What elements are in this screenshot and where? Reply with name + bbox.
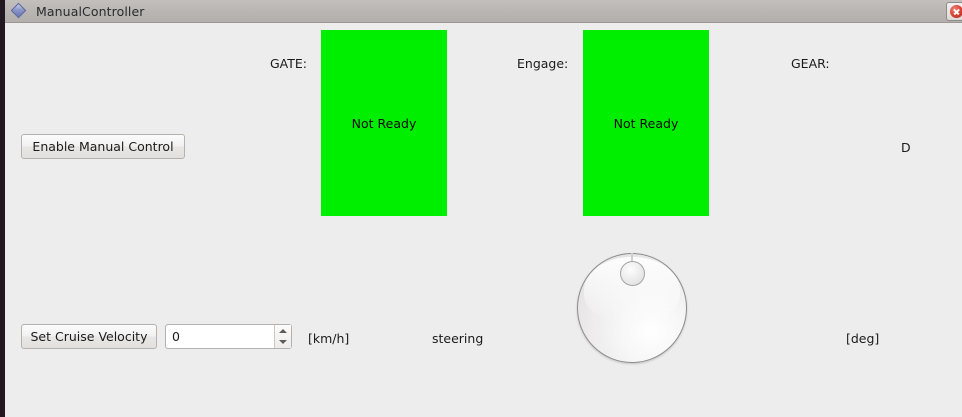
steering-dial[interactable] — [577, 253, 687, 363]
chevron-down-icon — [279, 340, 287, 344]
chevron-up-icon — [279, 329, 287, 333]
gear-status-value: D — [901, 140, 911, 155]
spinbox-decrement-button[interactable] — [275, 337, 291, 349]
gate-status-value: Not Ready — [352, 116, 417, 131]
cruise-velocity-spinbox[interactable]: 0 — [165, 324, 292, 349]
spinbox-increment-button[interactable] — [275, 325, 291, 337]
window-client-area: GATE: Engage: GEAR: Enable Manual Contro… — [5, 23, 962, 417]
enable-manual-control-button[interactable]: Enable Manual Control — [21, 134, 185, 159]
steering-unit-label: [deg] — [846, 331, 879, 346]
qt-diamond-icon — [11, 3, 27, 19]
steering-label: steering — [432, 331, 483, 346]
gear-label: GEAR: — [791, 56, 830, 71]
velocity-unit-label: [km/h] — [308, 331, 349, 346]
set-cruise-velocity-button[interactable]: Set Cruise Velocity — [21, 324, 157, 349]
gate-label: GATE: — [270, 56, 307, 71]
gate-status-box: Not Ready — [321, 30, 447, 216]
close-icon — [950, 5, 962, 18]
window-title: ManualController — [36, 4, 145, 19]
manual-controller-window: ManualController GATE: Engage: GEAR: Ena… — [5, 0, 962, 417]
cruise-velocity-input[interactable]: 0 — [166, 325, 274, 348]
engage-label: Engage: — [517, 56, 568, 71]
close-window-button[interactable] — [946, 2, 962, 21]
window-titlebar: ManualController — [5, 0, 962, 23]
engage-status-value: Not Ready — [614, 116, 679, 131]
spinbox-arrows — [274, 325, 291, 348]
steering-dial-handle[interactable] — [620, 261, 645, 286]
engage-status-box: Not Ready — [583, 30, 709, 216]
